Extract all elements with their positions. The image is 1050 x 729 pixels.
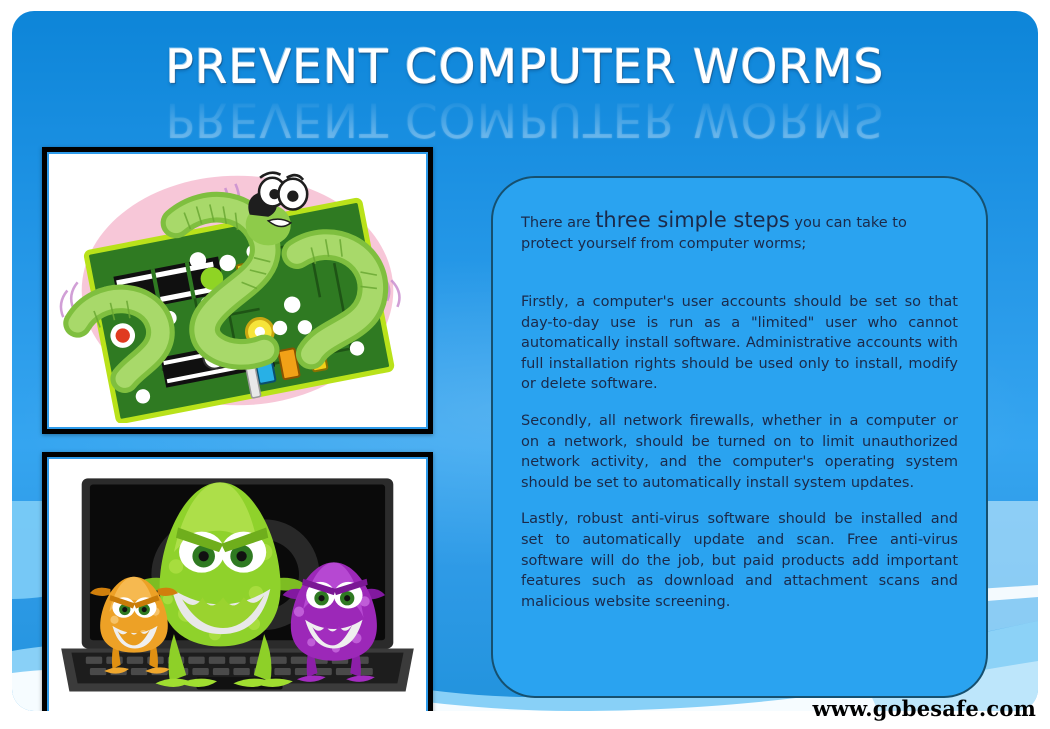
image-virus-monsters-laptop bbox=[53, 463, 422, 711]
image-worm-circuit-board bbox=[53, 158, 422, 423]
lead-emphasis: three simple steps bbox=[595, 208, 790, 232]
lead-paragraph: There are three simple steps you can tak… bbox=[521, 210, 958, 254]
lead-text-before: There are bbox=[521, 215, 595, 231]
image-frame-worm-circuit-board[interactable] bbox=[42, 147, 433, 434]
slide: PREVENT COMPUTER WORMS PREVENT COMPUTER … bbox=[0, 0, 1050, 729]
image-inner-border bbox=[47, 152, 428, 429]
paragraph-firstly: Firstly, a computer's user accounts shou… bbox=[521, 292, 958, 395]
page-title: PREVENT COMPUTER WORMS bbox=[12, 43, 1038, 92]
slide-title-block: PREVENT COMPUTER WORMS PREVENT COMPUTER … bbox=[12, 43, 1038, 144]
image-inner-border bbox=[47, 457, 428, 711]
paragraph-secondly: Secondly, all network firewalls, whether… bbox=[521, 411, 958, 493]
page-title-reflection: PREVENT COMPUTER WORMS bbox=[12, 94, 1038, 143]
slide-background: PREVENT COMPUTER WORMS PREVENT COMPUTER … bbox=[12, 11, 1038, 711]
footer-website-url[interactable]: www.gobesafe.com bbox=[812, 696, 1036, 721]
paragraph-lastly: Lastly, robust anti-virus software shoul… bbox=[521, 509, 958, 612]
image-frame-virus-monsters-laptop[interactable] bbox=[42, 452, 433, 711]
body-text-panel: There are three simple steps you can tak… bbox=[491, 176, 988, 698]
